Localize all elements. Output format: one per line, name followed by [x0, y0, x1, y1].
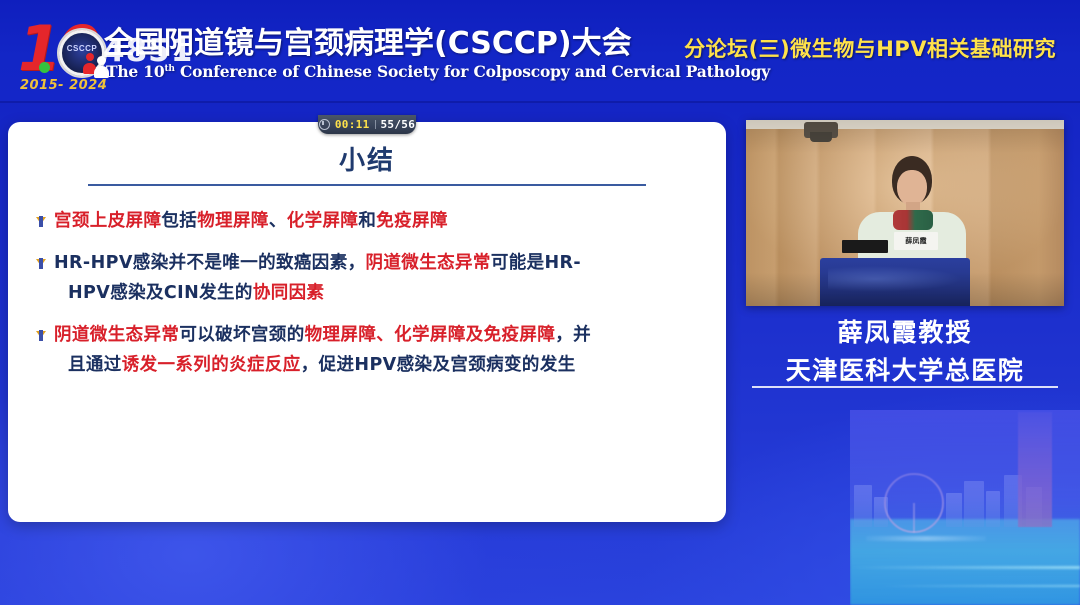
logo-years: 2015- 2024 — [20, 78, 107, 93]
bullet-text-segment: 、 — [269, 211, 287, 231]
slide-page-indicator: 55/56 — [381, 118, 416, 131]
video-vignette — [746, 120, 1064, 306]
slide-bullet: HR-HPV感染并不是唯一的致癌因素，阴道微生态异常可能是HR-HPV感染及CI… — [34, 248, 700, 308]
slide-bullet: 宫颈上皮屏障包括物理屏障、化学屏障和免疫屏障 — [34, 206, 700, 236]
bullet-text-segment: HR-HPV感染并不是唯一的致癌因素， — [54, 253, 366, 273]
bullet-arrow-icon — [34, 258, 54, 272]
bullet-arrow-icon — [34, 216, 54, 230]
slide-bullet: 阴道微生态异常可以破坏宫颈的物理屏障、化学屏障及免疫屏障，并且通过诱发一系列的炎… — [34, 320, 700, 380]
slide-bullet-line: 宫颈上皮屏障包括物理屏障、化学屏障和免疫屏障 — [54, 206, 700, 236]
page-header: 10 CSCCP 2015- 2024 全国阴道镜与宫颈病理学(CSCCP)大会… — [0, 0, 1080, 103]
bullet-text-segment: 物理屏障、化学屏障及免疫屏障 — [305, 325, 556, 345]
slide-timer-badge[interactable]: 00:11 55/56 — [318, 115, 416, 134]
speaker-organization: 天津医科大学总医院 — [746, 352, 1064, 390]
presentation-stage: 10 CSCCP 2015- 2024 全国阴道镜与宫颈病理学(CSCCP)大会… — [0, 0, 1080, 605]
bullet-text-segment: 且通过 — [68, 355, 122, 375]
tianjin-skyline-watermark — [850, 410, 1080, 605]
bullet-arrow-icon — [34, 330, 54, 344]
timer-elapsed: 00:11 — [335, 118, 370, 131]
slide-bullet-list: 宫颈上皮屏障包括物理屏障、化学屏障和免疫屏障HR-HPV感染并不是唯一的致癌因素… — [34, 206, 700, 392]
bullet-text-segment: 物理屏障 — [197, 211, 269, 231]
bullet-text-segment: HPV感染及CIN发生的 — [68, 283, 253, 303]
bullet-text-segment: ，促进HPV感染及宫颈病变的发生 — [301, 355, 576, 375]
speaker-video-feed[interactable]: 薛凤霞 — [746, 120, 1064, 306]
speaker-name: 薛凤霞教授 — [746, 314, 1064, 352]
skyline-haze — [850, 410, 1080, 605]
bullet-text-segment: 诱发一系列的炎症反应 — [122, 355, 301, 375]
conference-subtitle: The 10th Conference of Chinese Society f… — [106, 62, 770, 81]
bullet-text-segment: 可以破坏宫颈的 — [179, 325, 304, 345]
bullet-text-segment: 包括 — [161, 211, 197, 231]
slide-bullet-line: 且通过诱发一系列的炎症反应，促进HPV感染及宫颈病变的发生 — [54, 350, 700, 380]
subtitle-post: Conference of Chinese Society for Colpos… — [175, 62, 770, 81]
speaker-caption-divider — [752, 386, 1058, 388]
slide-title-divider — [88, 184, 646, 186]
overlay-counter: 4851 — [103, 33, 193, 69]
session-title: 分论坛(三)微生物与HPV相关基础研究 — [684, 33, 1056, 63]
bullet-text-segment: ，并 — [555, 325, 591, 345]
bullet-text-segment: 宫颈上皮屏障 — [54, 211, 161, 231]
logo-dot — [39, 62, 50, 73]
slide-bullet-text: 阴道微生态异常可以破坏宫颈的物理屏障、化学屏障及免疫屏障，并且通过诱发一系列的炎… — [54, 320, 700, 380]
bullet-text-segment: 阴道微生态异常 — [366, 253, 491, 273]
clock-icon — [319, 119, 330, 130]
bullet-text-segment: 协同因素 — [253, 283, 325, 303]
bullet-text-segment: 阴道微生态异常 — [54, 325, 179, 345]
slide-title: 小结 — [8, 140, 726, 177]
bullet-text-segment: 可能是HR- — [491, 253, 581, 273]
bullet-text-segment: 化学屏障 — [287, 211, 359, 231]
timer-separator — [375, 120, 376, 129]
bullet-text-segment: 和 — [358, 211, 376, 231]
people-icon-head — [86, 53, 94, 61]
bullet-text-segment: 免疫屏障 — [376, 211, 448, 231]
slide-bullet-line: HR-HPV感染并不是唯一的致癌因素，阴道微生态异常可能是HR- — [54, 248, 700, 278]
slide-bullet-text: 宫颈上皮屏障包括物理屏障、化学屏障和免疫屏障 — [54, 206, 700, 236]
slide-panel[interactable]: 小结 宫颈上皮屏障包括物理屏障、化学屏障和免疫屏障HR-HPV感染并不是唯一的致… — [8, 122, 726, 522]
speaker-caption: 薛凤霞教授 天津医科大学总医院 — [746, 314, 1064, 389]
slide-bullet-line: HPV感染及CIN发生的协同因素 — [54, 278, 700, 308]
slide-bullet-text: HR-HPV感染并不是唯一的致癌因素，阴道微生态异常可能是HR-HPV感染及CI… — [54, 248, 700, 308]
slide-bullet-line: 阴道微生态异常可以破坏宫颈的物理屏障、化学屏障及免疫屏障，并 — [54, 320, 700, 350]
